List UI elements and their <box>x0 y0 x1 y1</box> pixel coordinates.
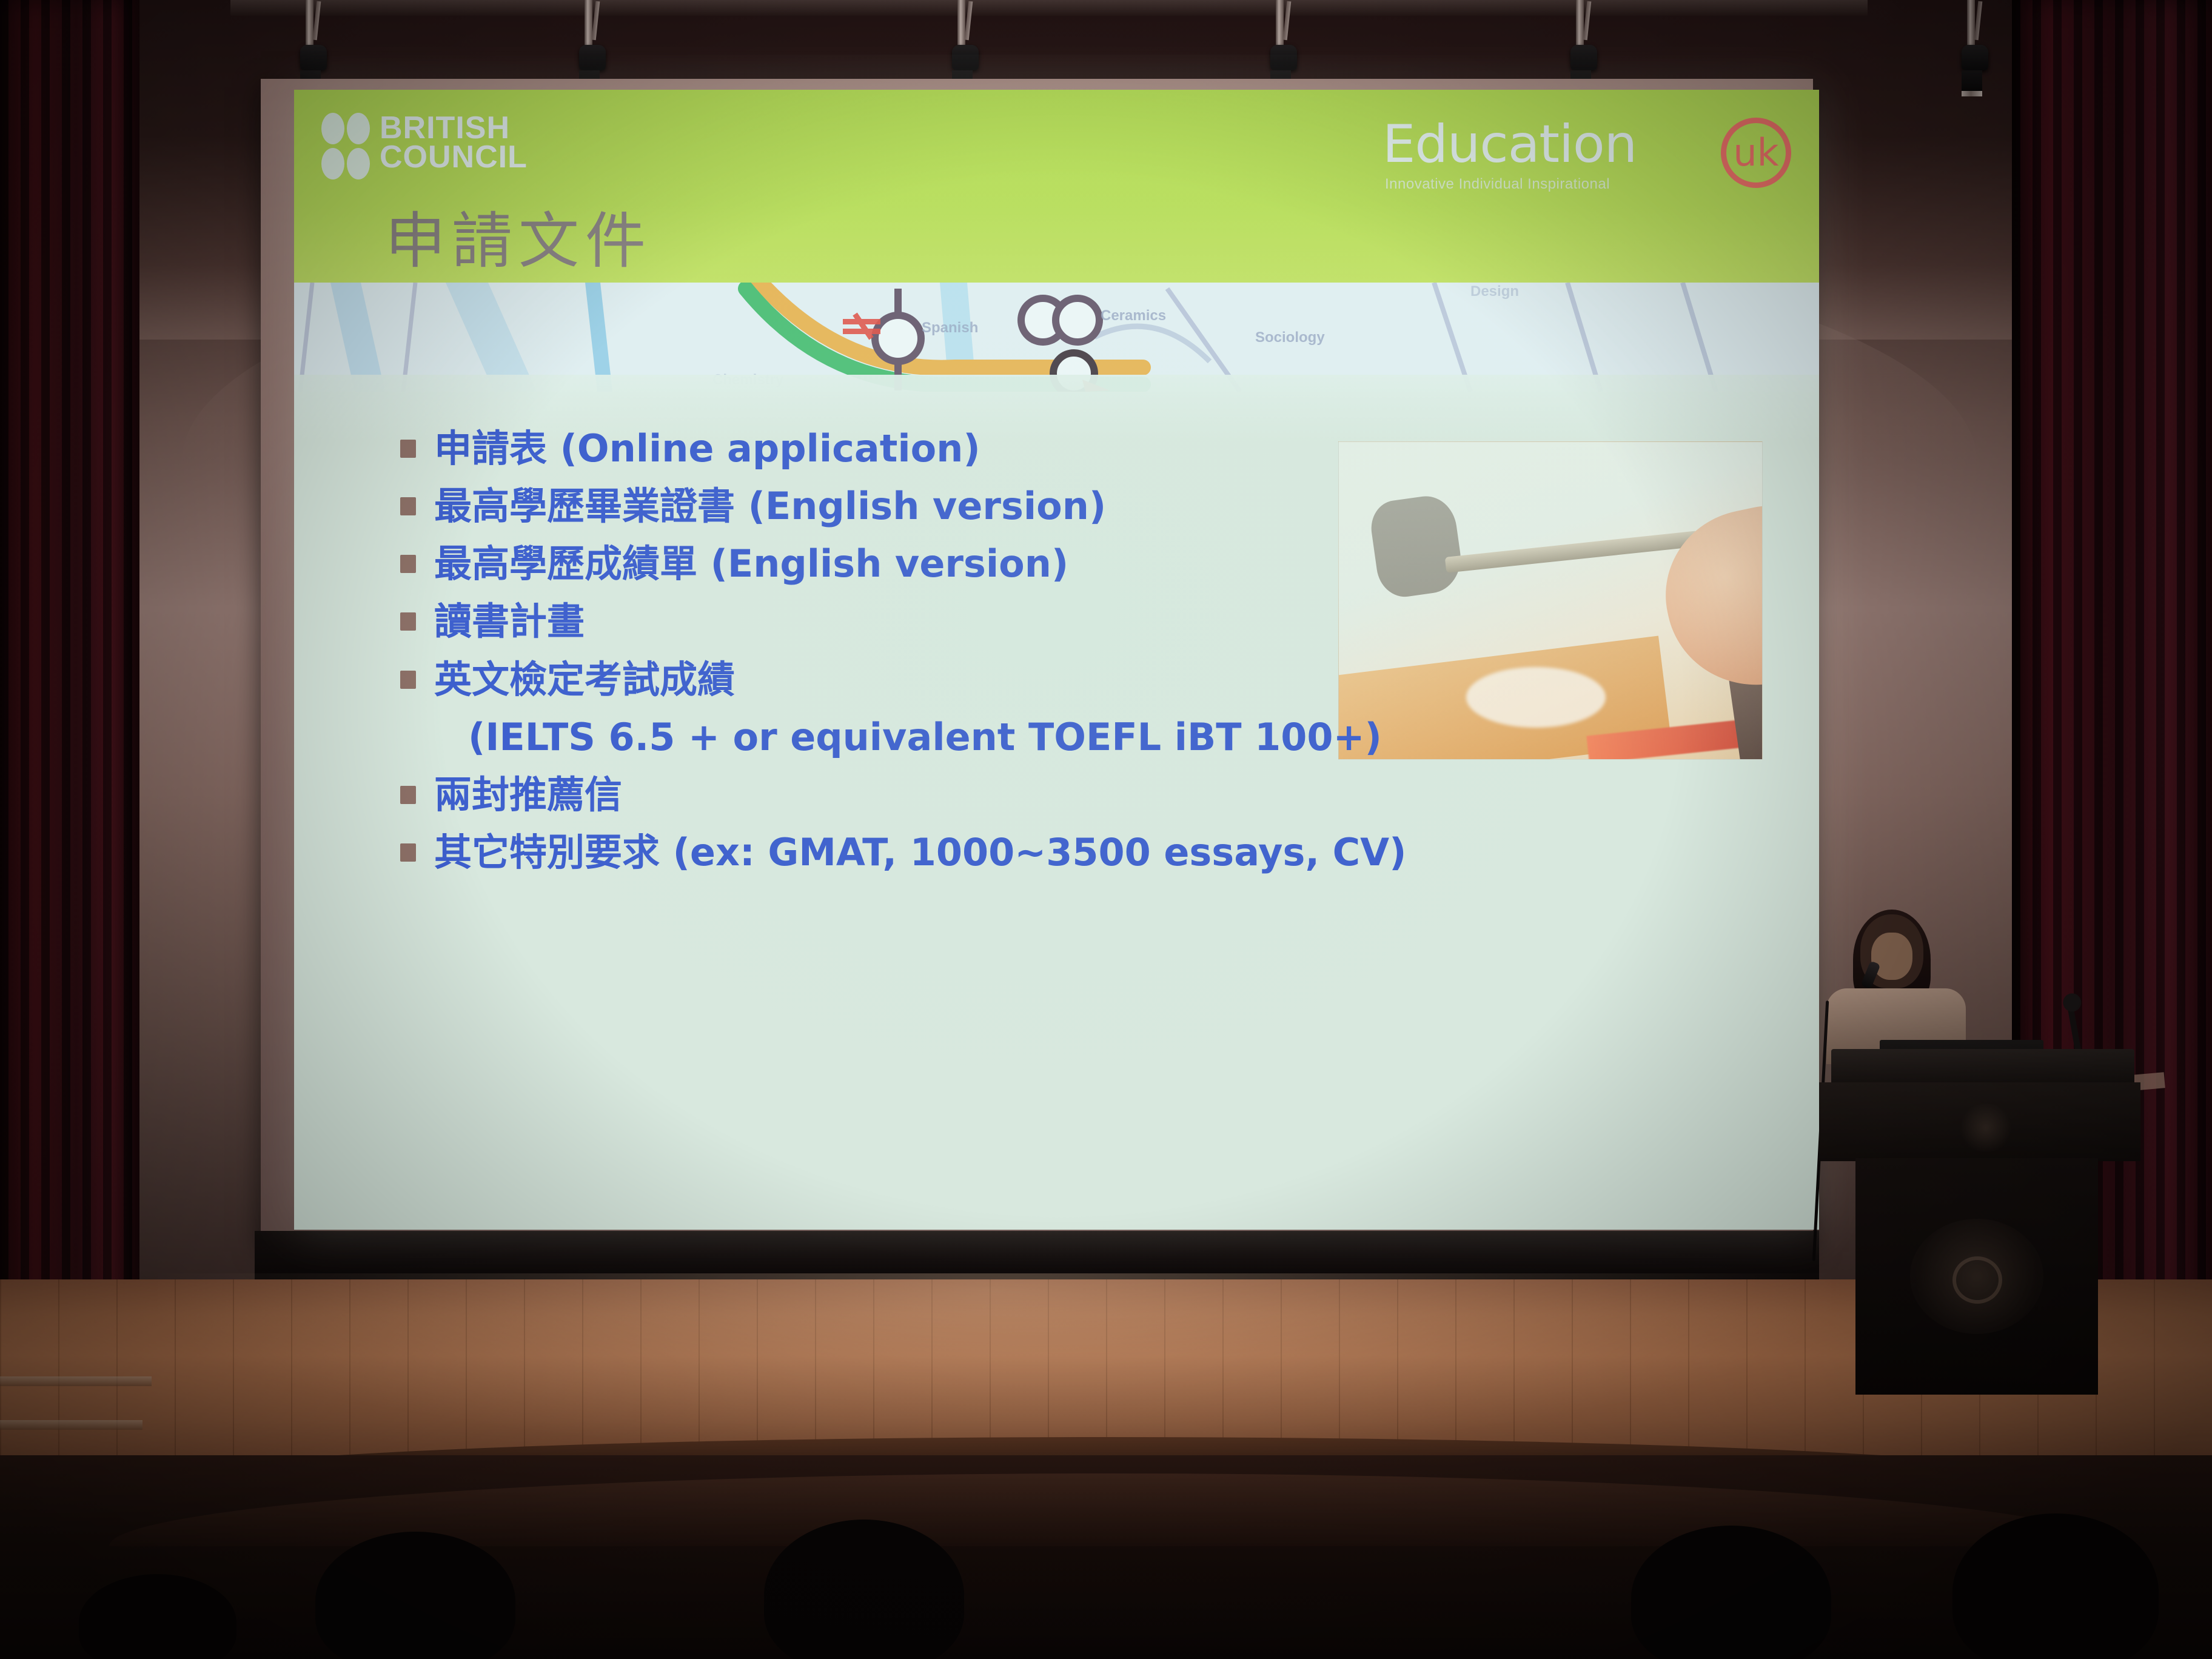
bullet-square-icon <box>400 440 416 458</box>
bullet-square-icon <box>400 843 416 862</box>
bullet-text: (IELTS 6.5 + or equivalent TOEFL iBT 100… <box>468 715 1382 759</box>
bullet-text: 英文檢定考試成績 <box>434 657 735 702</box>
auditorium-scene: BRITISH COUNCIL Education Innovative Ind… <box>0 0 2212 1659</box>
education-uk-mark-label: uk <box>1733 134 1778 172</box>
education-uk-logo: Education Innovative Individual Inspirat… <box>1382 114 1795 193</box>
map-label-ceramics: Ceramics <box>1101 307 1166 324</box>
bullet-text: 最高學歷成績單 (English version) <box>434 541 1068 586</box>
list-item: 兩封推薦信 <box>400 773 1467 817</box>
list-item: 最高學歷畢業證書 (English version) <box>400 484 1467 528</box>
rig-truss <box>230 0 1868 16</box>
bullet-square-icon <box>400 671 416 689</box>
stage-curtain-left <box>0 0 139 1370</box>
map-label-spanish: Spanish <box>922 320 978 336</box>
education-uk-circle-mark-icon: uk <box>1721 118 1791 188</box>
list-item: 其它特別要求 (ex: GMAT, 1000~3500 essays, CV) <box>400 830 1467 874</box>
floor-light-pool <box>158 1273 1831 1455</box>
podium-emblem-small <box>1959 1104 2013 1152</box>
map-label-sociology: Sociology <box>1255 329 1325 346</box>
british-council-line2: COUNCIL <box>380 143 528 172</box>
bullet-square-icon <box>400 497 416 515</box>
british-council-line1: BRITISH <box>380 114 528 143</box>
british-council-dots-icon <box>321 113 370 179</box>
map-label-design: Design <box>1470 283 1519 300</box>
british-council-logo: BRITISH COUNCIL <box>321 113 582 183</box>
bullet-text: 兩封推薦信 <box>434 773 622 817</box>
list-item: 英文檢定考試成績 <box>400 657 1467 702</box>
education-uk-tagline: Innovative Individual Inspirational <box>1385 176 1610 193</box>
bullet-text: 其它特別要求 (ex: GMAT, 1000~3500 essays, CV) <box>434 830 1406 874</box>
presentation-slide: BRITISH COUNCIL Education Innovative Ind… <box>294 90 1819 1230</box>
bullet-text: 讀書計畫 <box>434 599 585 643</box>
list-item: 申請表 (Online application) <box>400 426 1467 471</box>
list-item-continuation: (IELTS 6.5 + or equivalent TOEFL iBT 100… <box>400 715 1467 759</box>
curtain-folds-left <box>0 0 139 1370</box>
bullet-square-icon <box>400 555 416 573</box>
slide-header-band: BRITISH COUNCIL Education Innovative Ind… <box>294 90 1819 283</box>
presenter-podium-group <box>1813 910 2153 1395</box>
bullet-square-icon <box>400 786 416 804</box>
slide-bullet-list: 申請表 (Online application) 最高學歷畢業證書 (Engli… <box>400 426 1467 888</box>
bullet-square-icon <box>400 612 416 631</box>
education-uk-wordmark: Education <box>1382 114 1637 175</box>
bullet-text: 最高學歷畢業證書 (English version) <box>434 484 1106 528</box>
slide-title: 申請文件 <box>385 192 652 280</box>
stage-spotlight <box>1962 0 1980 96</box>
podium-emblem <box>1910 1219 2043 1334</box>
list-item: 最高學歷成績單 (English version) <box>400 541 1467 586</box>
bullet-text: 申請表 (Online application) <box>434 426 980 471</box>
list-item: 讀書計畫 <box>400 599 1467 643</box>
podium-top-surface <box>1831 1049 2134 1085</box>
